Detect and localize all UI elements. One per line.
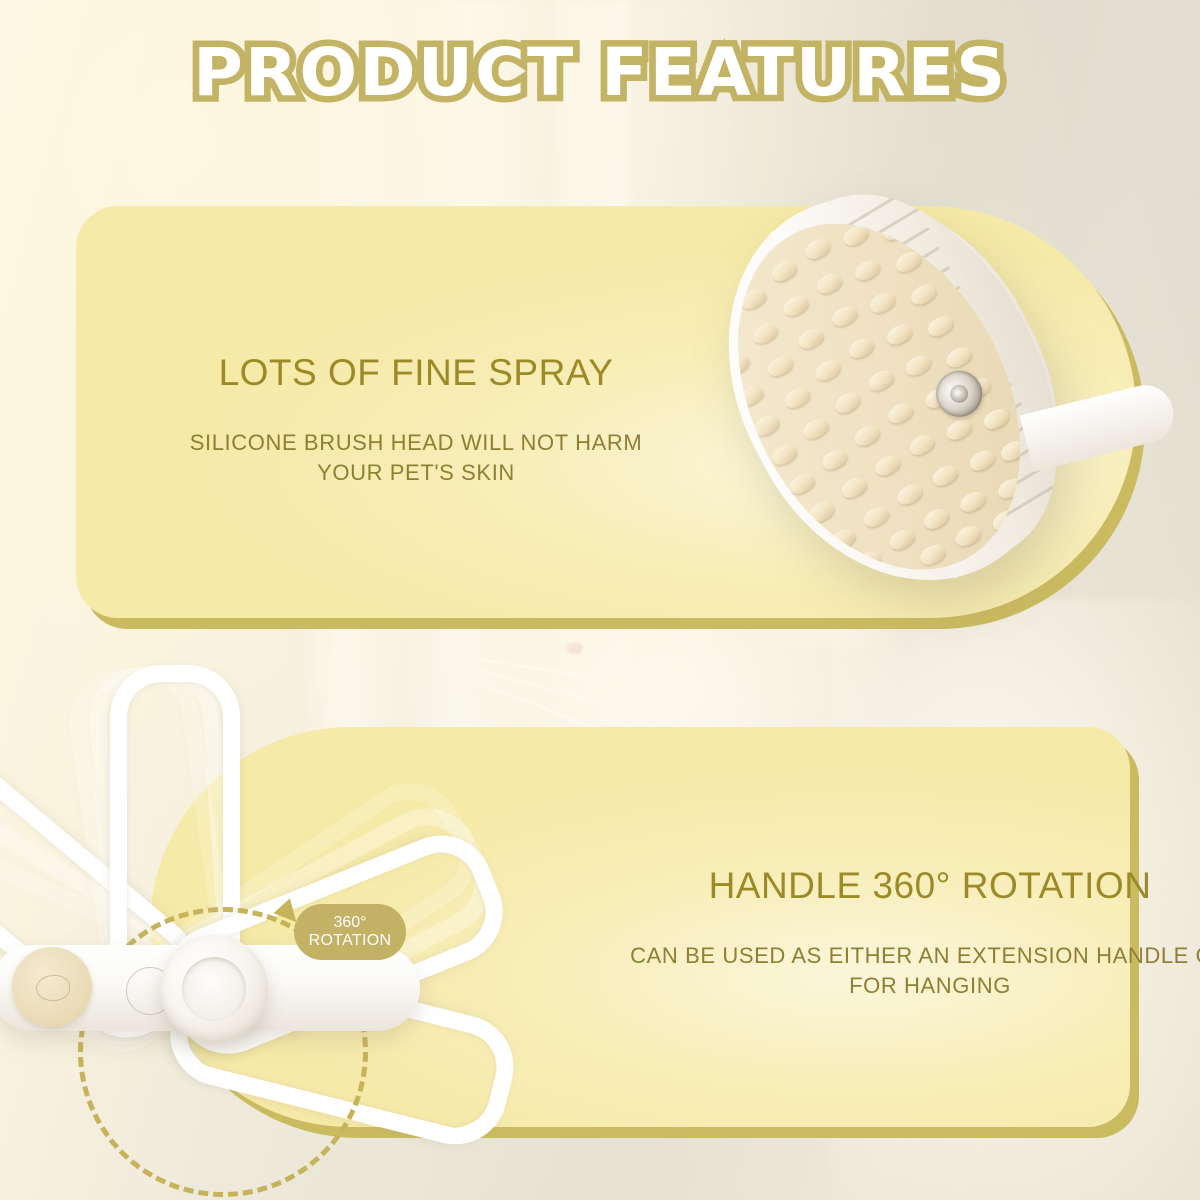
feature-subtext: SILICONE BRUSH HEAD WILL NOT HARM YOUR P… <box>166 428 666 487</box>
feature-heading: LOTS OF FINE SPRAY <box>166 352 666 394</box>
badge-degrees: 360° <box>333 914 366 932</box>
spray-nozzle-icon <box>928 363 990 425</box>
brush-head-rotation-group <box>600 64 1200 682</box>
rotation-badge: 360° ROTATION <box>294 904 406 960</box>
brush-head-image <box>678 148 1148 598</box>
pivot-knob-dent <box>182 957 246 1021</box>
feature-text-block: HANDLE 360° ROTATION CAN BE USED AS EITH… <box>630 865 1200 1000</box>
feature-subtext: CAN BE USED AS EITHER AN EXTENSION HANDL… <box>630 941 1200 1000</box>
page-title: PRODUCT FEATURES <box>193 40 1007 106</box>
rotating-handle-image <box>0 645 580 1165</box>
feature-heading: HANDLE 360° ROTATION <box>630 865 1200 907</box>
feature-text-block: LOTS OF FINE SPRAY SILICONE BRUSH HEAD W… <box>166 352 666 487</box>
handle-power-button[interactable] <box>12 947 92 1027</box>
badge-label: ROTATION <box>309 932 392 950</box>
